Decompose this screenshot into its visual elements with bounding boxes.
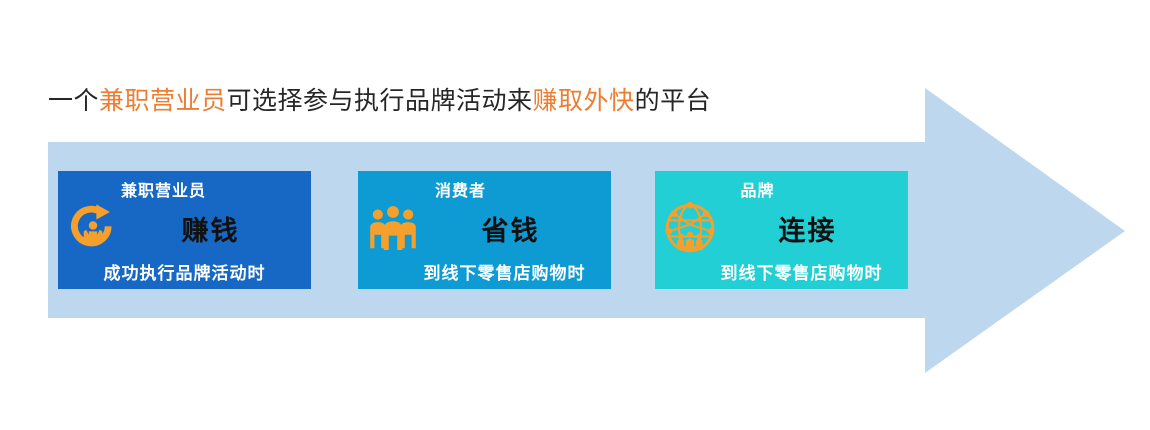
headline-segment-0: 一个 <box>48 88 99 115</box>
card-part-time-clerk[interactable]: 兼职营业员 赚钱 成功执行品牌活动时 <box>58 171 311 289</box>
card-headline: 赚钱 <box>116 209 305 248</box>
headline-segment-3-highlight: 赚取外快 <box>533 88 635 115</box>
three-people-group-icon <box>366 201 420 255</box>
page-title: 一个兼职营业员可选择参与执行品牌活动来赚取外快的平台 <box>48 86 711 118</box>
headline-segment-2: 可选择参与执行品牌活动来 <box>227 88 533 115</box>
card-role-label: 消费者 <box>358 177 611 201</box>
globe-network-people-icon <box>663 201 717 255</box>
headline-segment-1-highlight: 兼职营业员 <box>99 88 227 115</box>
card-caption: 到线下零售店购物时 <box>655 259 908 284</box>
card-headline: 连接 <box>713 209 902 248</box>
card-consumer[interactable]: 消费者 省钱 到线下零售店购物时 <box>358 171 611 289</box>
card-caption: 到线下零售店购物时 <box>358 259 611 284</box>
person-refresh-cycle-icon <box>66 201 120 255</box>
card-role-label: 品牌 <box>655 177 908 201</box>
card-role-label: 兼职营业员 <box>58 177 311 201</box>
card-headline: 省钱 <box>416 209 605 248</box>
card-brand[interactable]: 品牌 连接 到线下零售店购物时 <box>655 171 908 289</box>
card-caption: 成功执行品牌活动时 <box>58 259 311 284</box>
headline-segment-4: 的平台 <box>635 88 712 115</box>
